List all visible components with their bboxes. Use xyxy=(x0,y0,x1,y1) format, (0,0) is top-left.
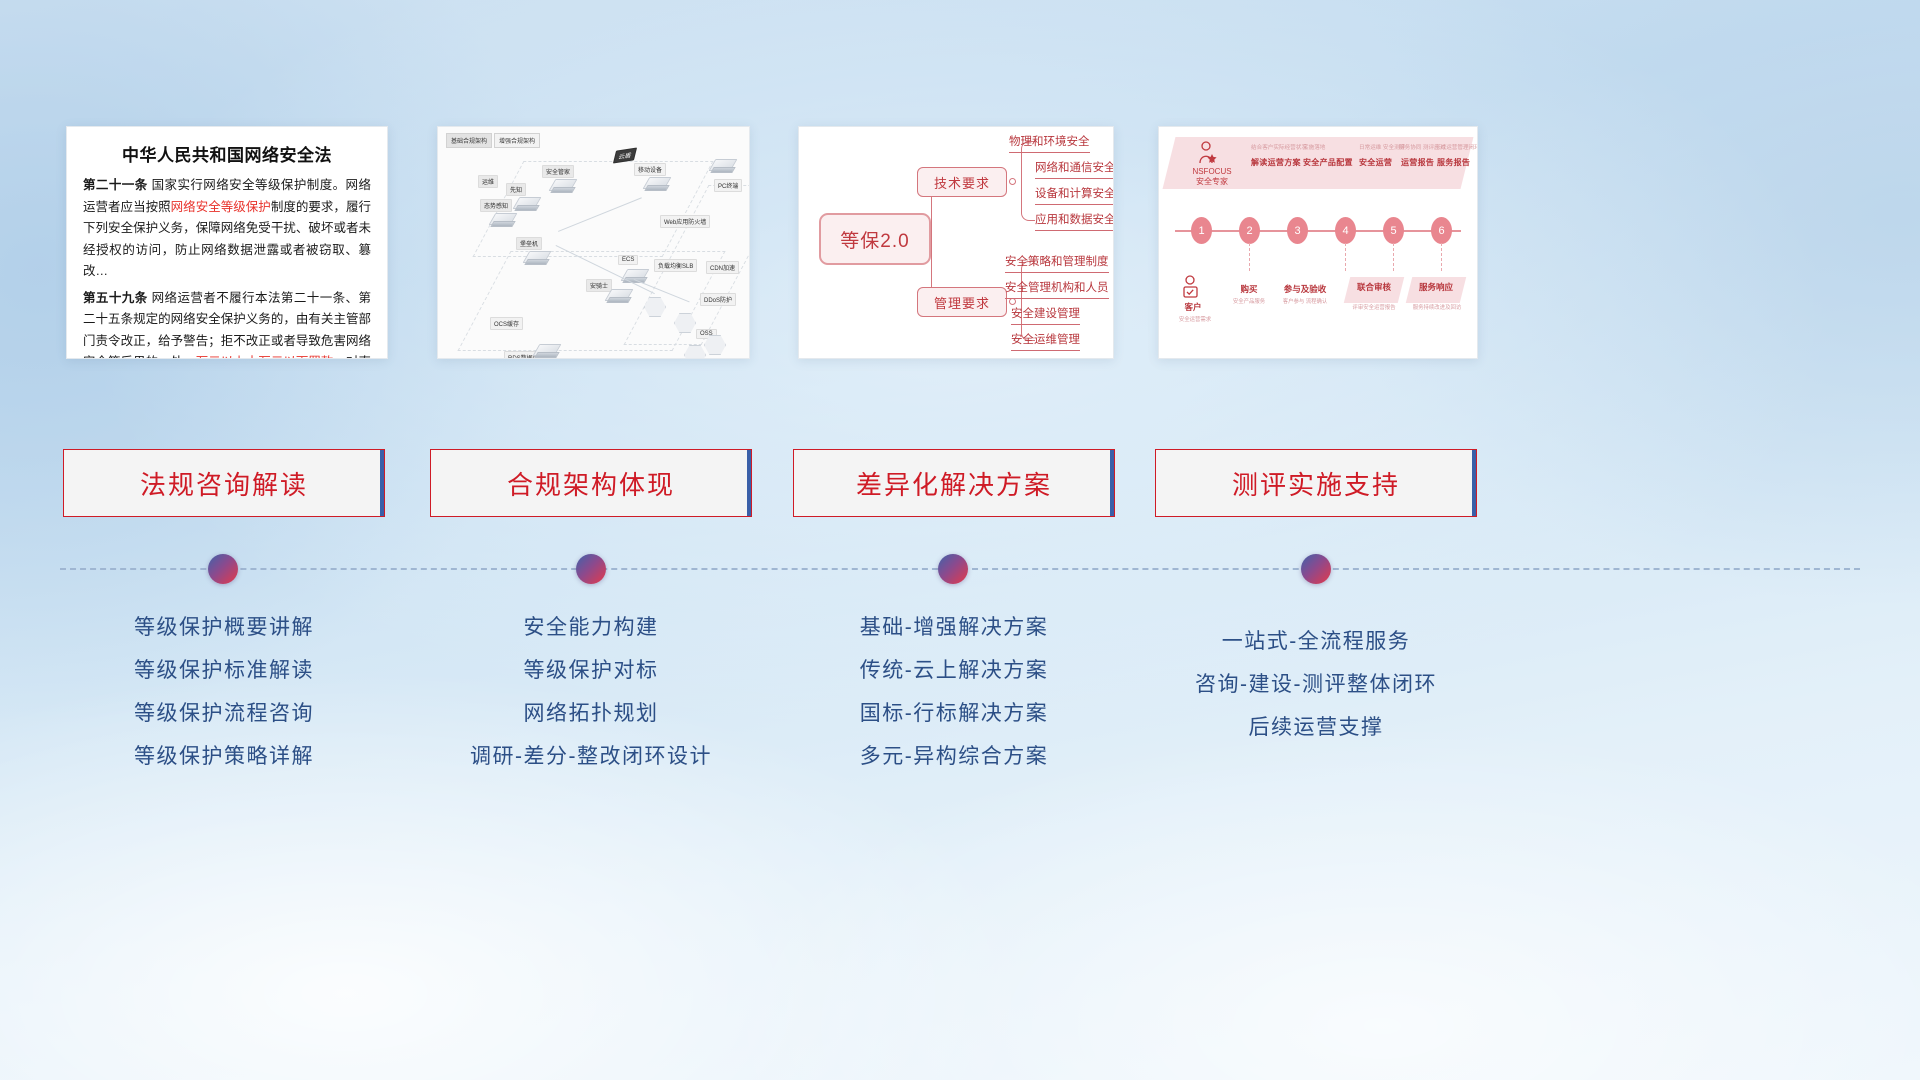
bullet-item: 咨询-建设-测评整体闭环 xyxy=(1155,663,1477,706)
headline-label: 差异化解决方案 xyxy=(856,465,1052,502)
arch-node-situation xyxy=(490,211,516,231)
mindmap-fan-technical xyxy=(1021,141,1035,221)
arch-label-slb: 负载均衡SLB xyxy=(654,259,697,272)
bullet-item: 多元-异构综合方案 xyxy=(793,735,1115,778)
roadmap-dropline xyxy=(1345,243,1346,271)
mindmap-leaf-mgmt-2: 安全管理机构和人员 xyxy=(1005,279,1109,299)
card-roadmap: NSFOCUS 安全专家 结合客户实际经营状况 解读运营方案 实施落地 安全产品… xyxy=(1158,126,1478,359)
roadmap-customer-sub: 安全运营需求 xyxy=(1167,315,1223,323)
timeline-dot-2[interactable] xyxy=(576,554,606,584)
bullet-item: 等级保护策略详解 xyxy=(63,735,385,778)
person-star-icon xyxy=(1197,141,1219,165)
arch-label-ocs: OCS缓存 xyxy=(490,317,523,330)
roadmap-axis xyxy=(1175,230,1461,232)
arch-label-cdn: CDN加速 xyxy=(706,261,739,274)
timeline-dot-4[interactable] xyxy=(1301,554,1331,584)
mindmap-dot-technical xyxy=(1009,178,1016,185)
roadmap-bottom-label-4: 服务响应 xyxy=(1413,281,1459,293)
arch-node-rds xyxy=(534,342,560,359)
bullet-item: 网络拓扑规划 xyxy=(430,692,752,735)
roadmap-expert: NSFOCUS 安全专家 xyxy=(1181,167,1243,187)
card-law-text: 中华人民共和国网络安全法 第二十一条 国家实行网络安全等级保护制度。网络运营者应… xyxy=(66,126,388,359)
roadmap-step-number-5: 5 xyxy=(1383,217,1404,244)
bullet-item: 国标-行标解决方案 xyxy=(793,692,1115,735)
roadmap-bottom-label-2: 参与及验收 xyxy=(1279,283,1331,295)
arch-label-waf: Web应用防火墙 xyxy=(660,215,710,228)
roadmap-bottom-sub-2: 客户参与 流程确认 xyxy=(1273,297,1337,305)
headline-box-1[interactable]: 法规咨询解读 xyxy=(63,449,385,517)
roadmap-step-number-2: 2 xyxy=(1239,217,1260,244)
roadmap-dropline xyxy=(1249,243,1250,271)
slide-canvas: 中华人民共和国网络安全法 第二十一条 国家实行网络安全等级保护制度。网络运营者应… xyxy=(0,0,1920,1080)
bullet-item: 等级保护概要讲解 xyxy=(63,606,385,649)
mindmap-dot-management xyxy=(1009,298,1016,305)
headline-label: 测评实施支持 xyxy=(1232,465,1400,502)
timeline-dot-3[interactable] xyxy=(938,554,968,584)
roadmap-expert-role: 安全专家 xyxy=(1181,177,1243,187)
card-mindmap: 等保2.0 技术要求 物理和环境安全 网络和通信安全 设备和计算安全 应用和数据… xyxy=(798,126,1114,359)
arch-tab-enhanced[interactable]: 增强合规架构 xyxy=(494,133,540,148)
arch-hex-4 xyxy=(684,345,706,359)
headline-box-3[interactable]: 差异化解决方案 xyxy=(793,449,1115,517)
arch-node-guanjia xyxy=(550,177,576,197)
headline-box-2[interactable]: 合规架构体现 xyxy=(430,449,752,517)
mindmap-leaf-tech-1: 物理和环境安全 xyxy=(1009,133,1090,153)
law-article-number: 第五十九条 xyxy=(83,291,148,305)
mindmap-branch-management: 管理要求 xyxy=(917,287,1007,317)
headline-label: 合规架构体现 xyxy=(507,465,675,502)
roadmap-dropline xyxy=(1441,243,1442,271)
bullet-column-3: 基础-增强解决方案 传统-云上解决方案 国标-行标解决方案 多元-异构综合方案 xyxy=(793,606,1115,778)
roadmap-step-label-5: 服务报告 xyxy=(1437,157,1470,168)
headline-label: 法规咨询解读 xyxy=(140,465,308,502)
bullet-item: 后续运营支撑 xyxy=(1155,706,1477,749)
arch-node-xianzhi xyxy=(514,195,540,215)
bullet-item: 等级保护标准解读 xyxy=(63,649,385,692)
roadmap-step-sub-2: 实施落地 xyxy=(1303,143,1325,151)
roadmap-step-label-2: 安全产品配置 xyxy=(1303,157,1353,168)
roadmap-expert-brand: NSFOCUS xyxy=(1181,167,1243,177)
arch-label-ecs: ECS xyxy=(618,255,638,265)
bullet-item: 传统-云上解决方案 xyxy=(793,649,1115,692)
roadmap-step-number-1: 1 xyxy=(1191,217,1212,244)
roadmap-dropline xyxy=(1393,243,1394,271)
card-cloud-architecture: 基础合规架构 增强合规架构 云盾 运维 态势感知 先知 安全管家 堡垒机 ECS… xyxy=(437,126,750,359)
bullet-column-4: 一站式-全流程服务 咨询-建设-测评整体闭环 后续运营支撑 xyxy=(1155,620,1477,749)
arch-node-pc xyxy=(710,157,736,177)
arch-node-mobile xyxy=(644,175,670,195)
arch-label-pc: PC终端 xyxy=(714,179,742,192)
roadmap-step-label-3: 安全运营 xyxy=(1359,157,1392,168)
mindmap-fan-management xyxy=(1021,261,1035,341)
law-run-highlight: 网络安全等级保护 xyxy=(171,200,271,214)
timeline-dot-1[interactable] xyxy=(208,554,238,584)
arch-node-anqishi xyxy=(606,287,632,307)
roadmap-step-sub-5: 形成运营管理闭环 xyxy=(1435,143,1478,151)
mindmap-leaf-mgmt-3: 安全建设管理 xyxy=(1011,305,1080,325)
law-paragraph-59: 第五十九条 网络运营者不履行本法第二十一条、第二十五条规定的网络安全保护义务的，… xyxy=(83,288,371,360)
bullet-item: 一站式-全流程服务 xyxy=(1155,620,1477,663)
bullet-item: 等级保护对标 xyxy=(430,649,752,692)
headline-box-4[interactable]: 测评实施支持 xyxy=(1155,449,1477,517)
roadmap-bottom-label-3: 联合审核 xyxy=(1351,281,1397,293)
mindmap-leaf-mgmt-1: 安全策略和管理制度 xyxy=(1005,253,1109,273)
bullet-item: 调研-差分-整改闭环设计 xyxy=(430,735,752,778)
architecture-diagram: 基础合规架构 增强合规架构 云盾 运维 态势感知 先知 安全管家 堡垒机 ECS… xyxy=(438,127,749,358)
roadmap-step-sub-1: 结合客户实际经营状况 xyxy=(1251,143,1307,151)
customer-icon xyxy=(1181,275,1201,299)
law-paragraph-21: 第二十一条 国家实行网络安全等级保护制度。网络运营者应当按照网络安全等级保护制度… xyxy=(83,175,371,283)
roadmap-step-label-1: 解读运营方案 xyxy=(1251,157,1301,168)
arch-node-bastion xyxy=(524,249,550,269)
law-article-number: 第二十一条 xyxy=(83,178,148,192)
roadmap-bottom-sub-3: 评审安全运营报告 xyxy=(1341,303,1407,311)
arch-tab-basic[interactable]: 基础合规架构 xyxy=(446,133,492,148)
law-title: 中华人民共和国网络安全法 xyxy=(83,141,371,166)
roadmap-bottom-sub-1: 安全产品服务 xyxy=(1219,297,1279,305)
roadmap-step-number-6: 6 xyxy=(1431,217,1452,244)
roadmap-step-number-3: 3 xyxy=(1287,217,1308,244)
mindmap-core: 等保2.0 xyxy=(819,213,931,265)
mindmap-leaf-mgmt-4: 安全运维管理 xyxy=(1011,331,1080,351)
mindmap-branch-technical: 技术要求 xyxy=(917,167,1007,197)
bullet-item: 等级保护流程咨询 xyxy=(63,692,385,735)
mindmap-leaf-tech-3: 设备和计算安全 xyxy=(1035,185,1114,205)
arch-label-yunwei: 运维 xyxy=(478,175,498,188)
law-run-highlight: 一万元以上十万元以下罚款 xyxy=(183,355,333,359)
roadmap-customer-label: 客户 xyxy=(1179,301,1207,313)
roadmap-bottom-sub-4: 服务持续改进及回访 xyxy=(1403,303,1471,311)
roadmap-step-number-4: 4 xyxy=(1335,217,1356,244)
bullet-item: 基础-增强解决方案 xyxy=(793,606,1115,649)
mindmap-leaf-tech-4: 应用和数据安全 xyxy=(1035,211,1114,231)
roadmap-step-label-4: 运营报告 xyxy=(1401,157,1434,168)
bullet-column-1: 等级保护概要讲解 等级保护标准解读 等级保护流程咨询 等级保护策略详解 xyxy=(63,606,385,778)
mindmap-leaf-tech-2: 网络和通信安全 xyxy=(1035,159,1114,179)
roadmap-bottom-label-1: 购买 xyxy=(1231,283,1267,295)
bullet-item: 安全能力构建 xyxy=(430,606,752,649)
bullet-column-2: 安全能力构建 等级保护对标 网络拓扑规划 调研-差分-整改闭环设计 xyxy=(430,606,752,778)
arch-label-ddos: DDoS防护 xyxy=(700,293,736,306)
